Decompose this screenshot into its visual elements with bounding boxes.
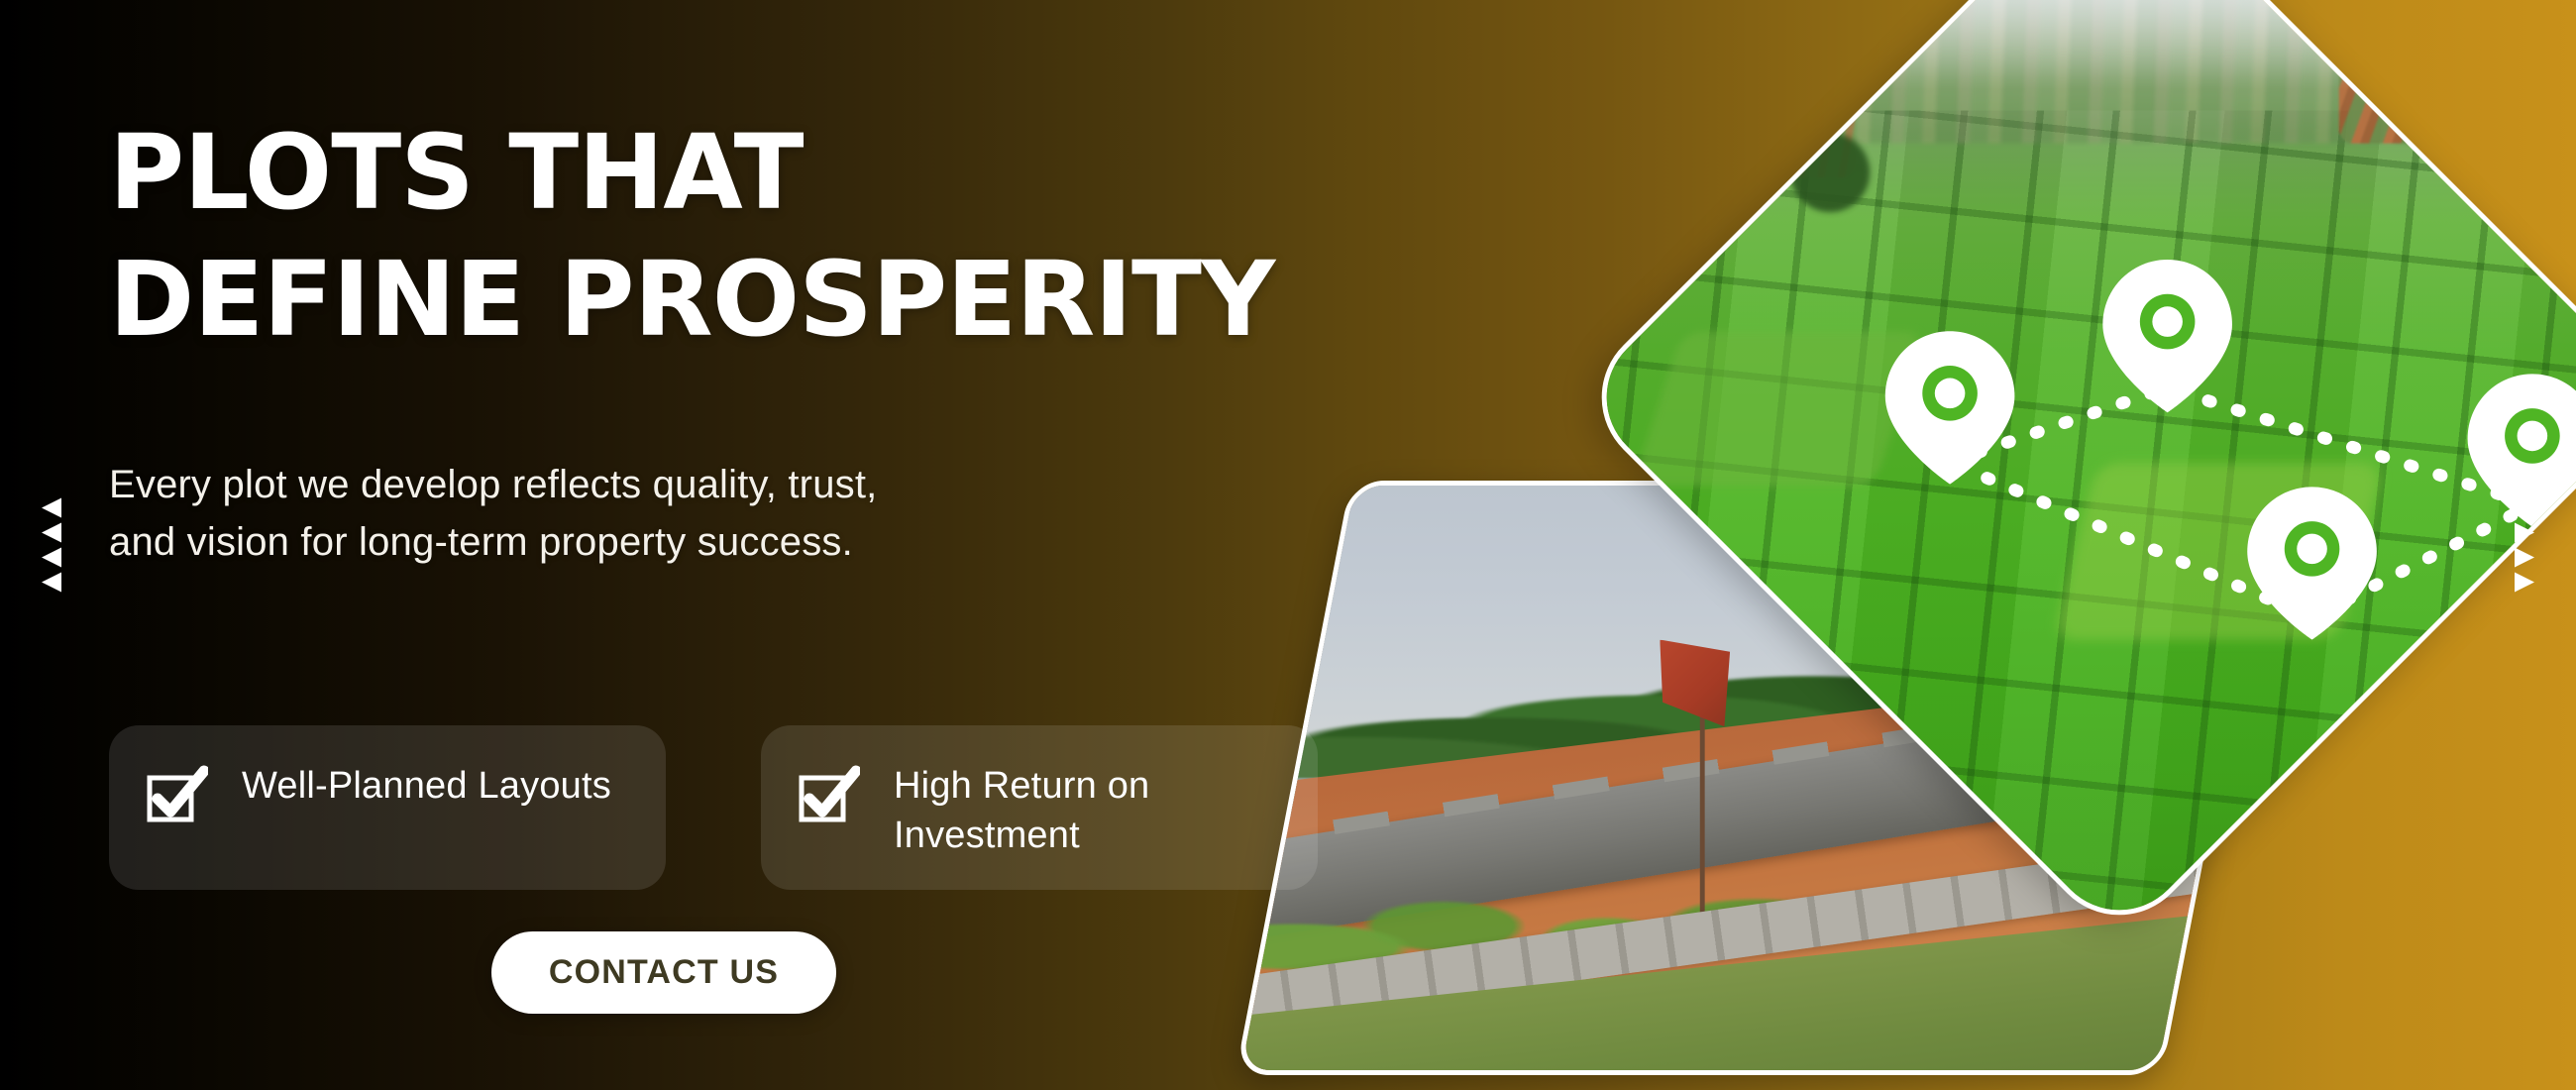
subtitle-line-1: Every plot we develop reflects quality, … xyxy=(109,463,877,506)
carousel-next-button[interactable] xyxy=(2513,497,2538,594)
map-pin-group xyxy=(1885,260,2576,640)
headline-line-2: DEFINE PROSPERITY xyxy=(109,248,1274,351)
page-title: PLOTS THAT DEFINE PROSPERITY xyxy=(109,121,1274,351)
carousel-prev-button[interactable] xyxy=(38,497,63,594)
hero-banner: PLOTS THAT DEFINE PROSPERITY Every plot … xyxy=(0,0,2576,1090)
chevron-left-icon xyxy=(38,497,63,519)
feature-list: Well-Planned Layouts High Return on Inve… xyxy=(109,725,1318,890)
chevron-left-icon xyxy=(38,547,63,569)
headline-line-1: PLOTS THAT xyxy=(109,112,804,233)
chevron-left-icon xyxy=(38,572,63,594)
checkbox-checked-icon xyxy=(797,765,860,828)
feature-label: Well-Planned Layouts xyxy=(242,761,611,811)
subtitle-line-2: and vision for long-term property succes… xyxy=(109,513,877,571)
contact-us-button[interactable]: CONTACT US xyxy=(491,931,836,1014)
feature-label: High Return on Investment xyxy=(894,761,1270,860)
map-pin-icon xyxy=(2102,260,2232,412)
map-pin-icon xyxy=(1885,331,2015,484)
chevron-right-icon xyxy=(2513,522,2538,544)
chevron-right-icon xyxy=(2513,497,2538,519)
plot-boundary-dotted-line xyxy=(1950,387,2532,617)
feature-card-well-planned-layouts[interactable]: Well-Planned Layouts xyxy=(109,725,666,890)
chevron-right-icon xyxy=(2513,572,2538,594)
map-pin-icon xyxy=(2247,487,2377,639)
chevron-right-icon xyxy=(2513,547,2538,569)
cta-container: CONTACT US xyxy=(109,931,1219,1014)
hero-content: PLOTS THAT DEFINE PROSPERITY Every plot … xyxy=(109,0,1546,1090)
checkbox-checked-icon xyxy=(145,765,208,828)
feature-card-high-return-on-investment[interactable]: High Return on Investment xyxy=(761,725,1318,890)
hero-subtitle: Every plot we develop reflects quality, … xyxy=(109,456,877,571)
chevron-left-icon xyxy=(38,522,63,544)
